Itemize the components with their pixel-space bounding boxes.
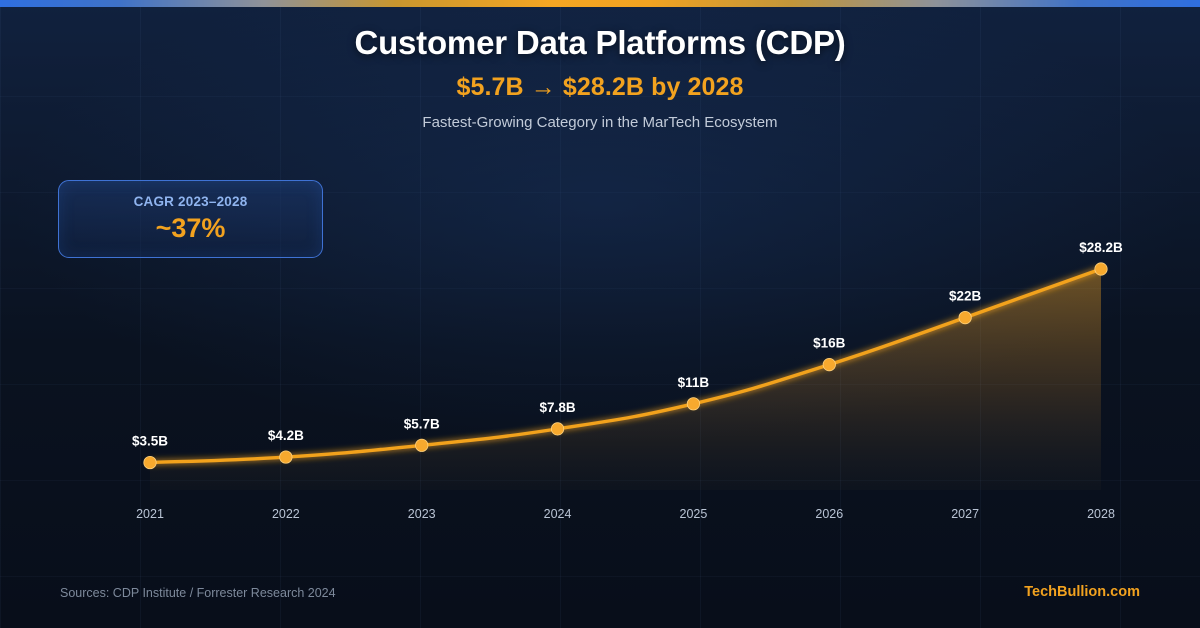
header: Customer Data Platforms (CDP) $5.7B → $2… <box>0 0 1200 131</box>
chart-point-label: $4.2B <box>268 428 304 443</box>
chart-point-label: $28.2B <box>1079 240 1123 255</box>
chart-point-label: $11B <box>678 375 710 390</box>
chart-x-tick: 2022 <box>272 507 300 521</box>
tagline: Fastest-Growing Category in the MarTech … <box>0 114 1200 131</box>
chart-data-point[interactable] <box>280 451 292 463</box>
brand-watermark[interactable]: TechBullion.com <box>1024 584 1140 600</box>
chart-x-tick: 2023 <box>408 507 436 521</box>
chart-point-label: $7.8B <box>540 400 576 415</box>
page-title: Customer Data Platforms (CDP) <box>0 24 1200 62</box>
chart-point-label: $5.7B <box>404 416 440 431</box>
chart-data-point[interactable] <box>823 358 835 370</box>
chart-x-tick: 2025 <box>680 507 708 521</box>
cagr-badge-label: CAGR 2023–2028 <box>134 194 248 209</box>
chart-x-tick: 2028 <box>1087 507 1115 521</box>
chart-data-point[interactable] <box>687 398 699 410</box>
chart-x-tick: 2021 <box>136 507 164 521</box>
chart-data-point[interactable] <box>959 311 971 323</box>
chart-point-label: $16B <box>813 336 846 351</box>
footer: Sources: CDP Institute / Forrester Resea… <box>0 572 1200 628</box>
sub-headline: $5.7B → $28.2B by 2028 <box>0 73 1200 102</box>
cagr-badge-value: ~37% <box>156 213 226 244</box>
cagr-badge: CAGR 2023–2028 ~37% <box>58 180 323 258</box>
top-accent-bar <box>0 0 1200 7</box>
chart-point-label: $3.5B <box>132 434 168 449</box>
chart-point-label: $22B <box>949 289 982 304</box>
chart-x-axis-ticks: 20212022202320242025202620272028 <box>136 507 1115 521</box>
infographic-canvas: Customer Data Platforms (CDP) $5.7B → $2… <box>0 0 1200 628</box>
chart-data-point[interactable] <box>1095 263 1107 275</box>
chart-data-point[interactable] <box>551 423 563 435</box>
source-note: Sources: CDP Institute / Forrester Resea… <box>60 586 336 600</box>
chart-x-tick: 2026 <box>815 507 843 521</box>
chart-x-tick: 2027 <box>951 507 979 521</box>
chart-data-point[interactable] <box>416 439 428 451</box>
chart-data-point[interactable] <box>144 456 156 468</box>
chart-x-tick: 2024 <box>544 507 572 521</box>
